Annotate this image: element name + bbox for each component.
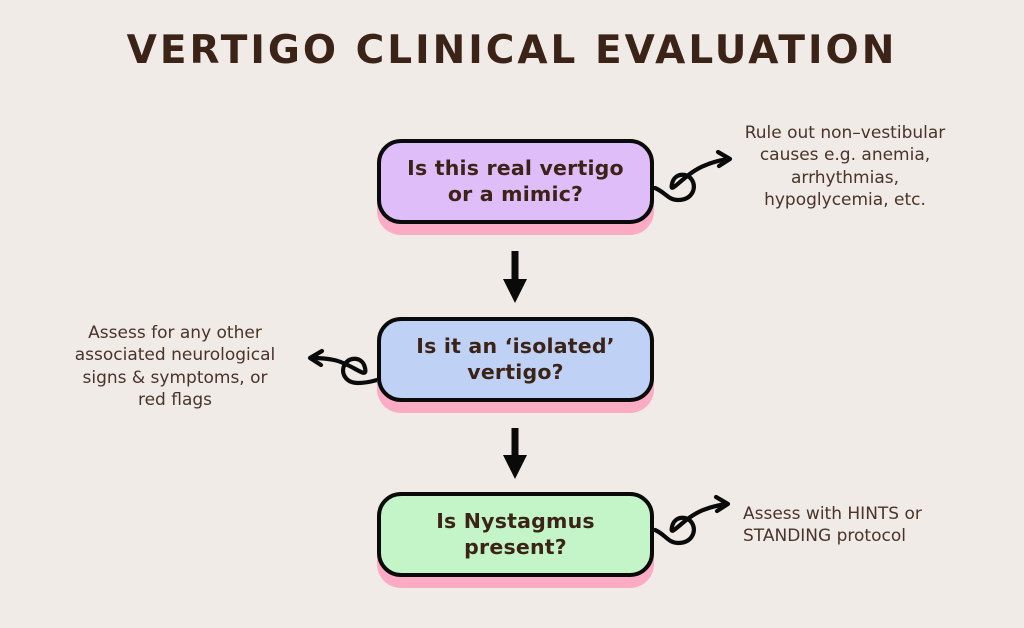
node-body: Is it an ‘isolated’ vertigo? [377,317,654,402]
node-label: Is Nystagmus present? [422,509,609,560]
flowchart-canvas: VERTIGO CLINICAL EVALUATION [0,0,1024,628]
annotation-hints-standing-protocol: Assess with HINTS or STANDING protocol [743,503,993,548]
annotation-assess-neurological-signs: Assess for any other associated neurolog… [48,322,302,412]
node-body: Is this real vertigo or a mimic? [377,139,654,224]
decision-node-real-vertigo[interactable]: Is this real vertigo or a mimic? [377,139,654,224]
connector-node2-node3 [503,428,527,479]
curly-arrow-right-icon-3 [655,497,728,543]
node-body: Is Nystagmus present? [377,492,654,577]
annotation-rule-out-non-vestibular: Rule out non–vestibular causes e.g. anem… [714,122,976,212]
decision-node-nystagmus[interactable]: Is Nystagmus present? [377,492,654,577]
connector-node1-node2 [503,251,527,303]
page-title: VERTIGO CLINICAL EVALUATION [0,28,1024,73]
node-label: Is it an ‘isolated’ vertigo? [402,334,628,385]
node-label: Is this real vertigo or a mimic? [393,156,638,207]
decision-node-isolated-vertigo[interactable]: Is it an ‘isolated’ vertigo? [377,317,654,402]
curly-arrow-left-icon-2 [310,351,377,383]
